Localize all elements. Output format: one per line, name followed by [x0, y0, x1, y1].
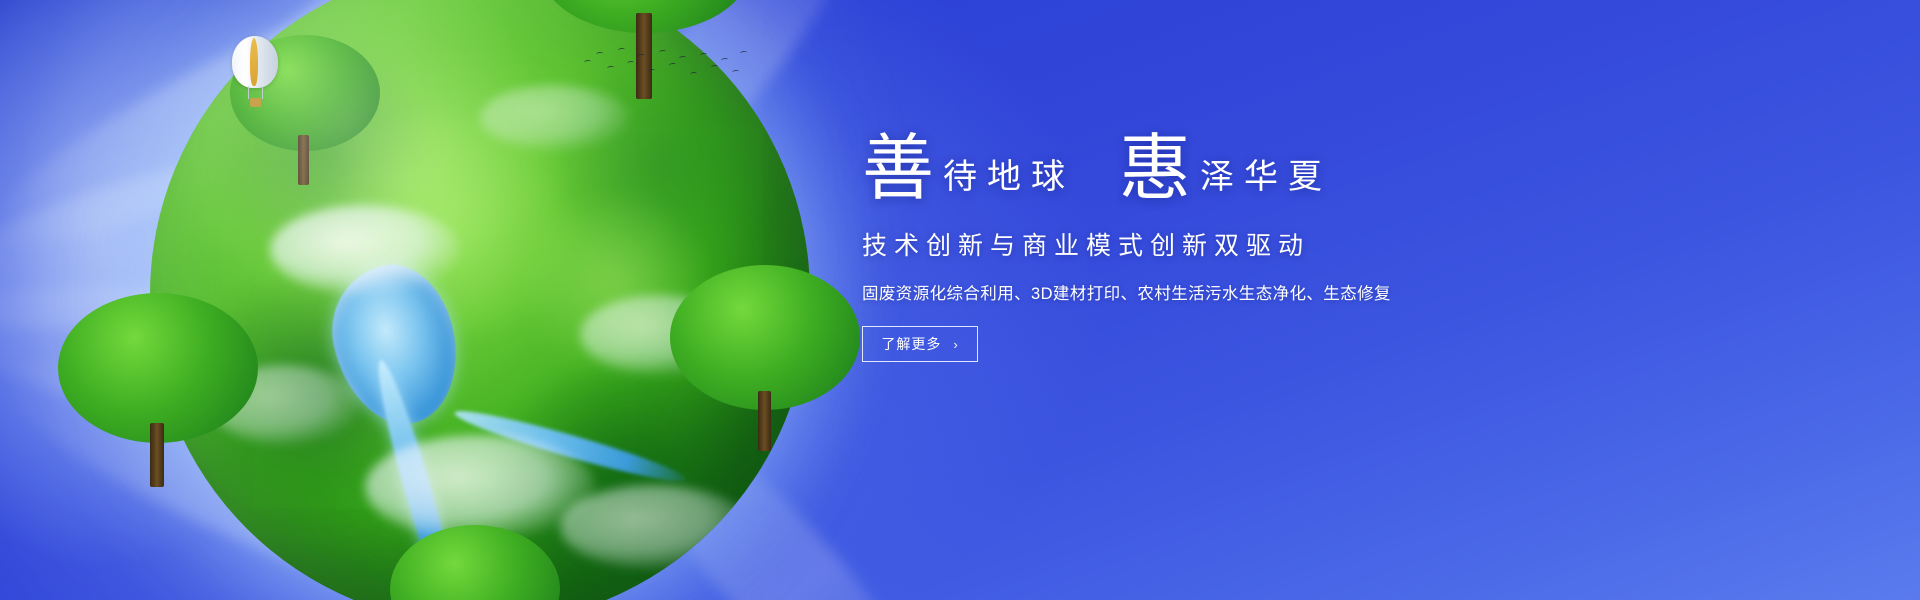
headline: 善 待地球 惠 泽华夏	[862, 128, 1562, 200]
tree-icon	[390, 525, 560, 600]
hero-banner: 善 待地球 惠 泽华夏 技术创新与商业模式创新双驱动 固废资源化综合利用、3D建…	[0, 0, 1920, 600]
globe-cloud	[560, 485, 750, 569]
hot-air-balloon-icon	[232, 36, 278, 112]
learn-more-label: 了解更多	[881, 334, 941, 354]
learn-more-button[interactable]: 了解更多 ›	[862, 326, 978, 362]
headline-phrase1-large: 善	[862, 132, 935, 204]
balloon-basket	[250, 98, 261, 107]
globe-terrain-patch	[300, 115, 600, 335]
globe-cloud	[480, 85, 630, 151]
balloon-stripe	[250, 38, 258, 86]
tree-crown	[670, 265, 860, 410]
globe-cloud	[270, 205, 460, 295]
chevron-right-icon: ›	[953, 338, 958, 351]
headline-phrase2-large: 惠	[1119, 132, 1192, 204]
hero-subtitle: 技术创新与商业模式创新双驱动	[862, 226, 1562, 262]
hero-description: 固废资源化综合利用、3D建材打印、农村生活污水生态净化、生态修复	[862, 280, 1562, 304]
tree-trunk	[150, 423, 164, 487]
globe-lake	[320, 254, 471, 435]
tree-icon	[670, 265, 860, 435]
tree-trunk	[758, 391, 771, 451]
bird-flock-icon	[580, 42, 750, 92]
globe-river	[452, 402, 689, 489]
headline-phrase2-small: 泽华夏	[1192, 160, 1332, 200]
tree-trunk	[298, 135, 309, 185]
tree-crown	[58, 293, 258, 443]
tree-icon	[58, 293, 258, 473]
hero-text-block: 善 待地球 惠 泽华夏 技术创新与商业模式创新双驱动 固废资源化综合利用、3D建…	[862, 128, 1562, 362]
headline-phrase1-small: 待地球	[935, 160, 1075, 200]
tree-crown	[390, 525, 560, 600]
